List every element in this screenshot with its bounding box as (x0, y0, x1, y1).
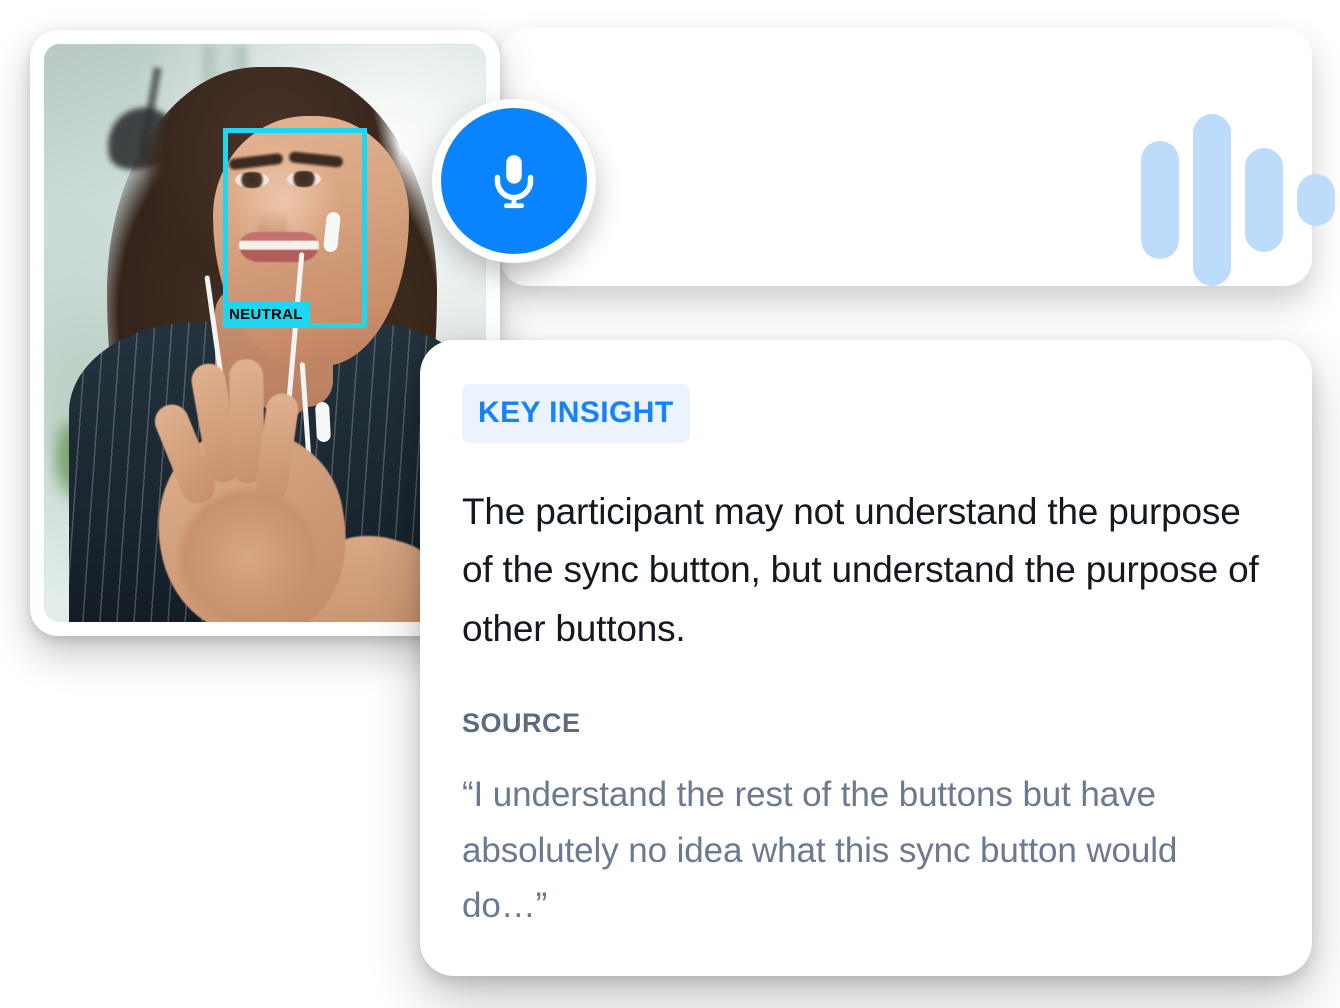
insight-panel-composition: NEUTRAL KEY INSIGHT The participant may … (0, 0, 1340, 1008)
microphone-icon (483, 150, 545, 212)
key-insight-card: KEY INSIGHT The participant may not unde… (420, 340, 1312, 976)
insight-body-text: The participant may not understand the p… (462, 483, 1270, 658)
waveform-bar-3 (1245, 148, 1283, 252)
audio-waveform[interactable] (1141, 70, 1340, 330)
microphone-button[interactable] (432, 99, 596, 263)
waveform-bar-4 (1297, 174, 1335, 226)
audio-waveform-panel (500, 28, 1312, 286)
face-detection-box: NEUTRAL (223, 128, 367, 328)
source-quote-text: “I understand the rest of the buttons bu… (462, 767, 1252, 933)
emotion-label-neutral: NEUTRAL (223, 302, 310, 328)
waveform-bar-2 (1193, 114, 1231, 286)
earbud-right (315, 402, 331, 443)
waveform-bar-1 (1141, 141, 1179, 259)
source-label: SOURCE (462, 710, 1270, 737)
key-insight-badge: KEY INSIGHT (462, 384, 690, 443)
